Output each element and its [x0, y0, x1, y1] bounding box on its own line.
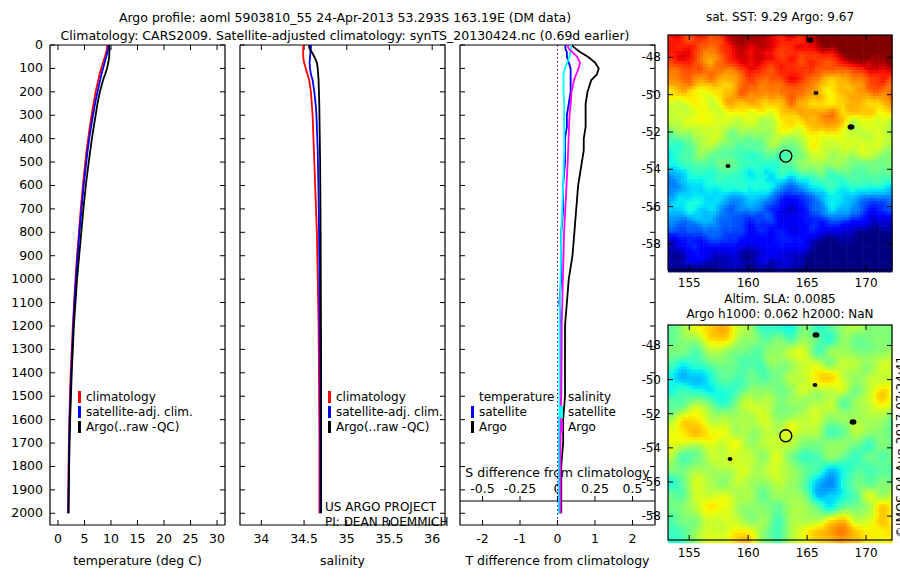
svg-text:160: 160 — [737, 276, 760, 290]
svg-text:160: 160 — [737, 546, 760, 560]
svg-text:-48: -48 — [641, 338, 661, 352]
svg-text:155: 155 — [678, 546, 701, 560]
svg-text:-48: -48 — [641, 50, 661, 64]
svg-text:-56: -56 — [641, 200, 661, 214]
svg-text:155: 155 — [678, 276, 701, 290]
svg-text:-52: -52 — [641, 407, 661, 421]
svg-text:-50: -50 — [641, 373, 661, 387]
svg-text:165: 165 — [796, 546, 819, 560]
svg-text:-54: -54 — [641, 441, 661, 455]
svg-text:-56: -56 — [641, 475, 661, 489]
svg-text:-52: -52 — [641, 125, 661, 139]
sst-map-axes: 155160165170-48-50-52-54-56-581551601651… — [0, 0, 900, 580]
svg-text:-58: -58 — [641, 237, 661, 251]
svg-text:170: 170 — [855, 546, 878, 560]
svg-text:-50: -50 — [641, 88, 661, 102]
sst-map-ticks: 155160165170-48-50-52-54-56-58 — [641, 35, 892, 290]
imos-timestamp: ©IMOS 04-Aug-2017 07:24:41 — [894, 356, 900, 538]
svg-text:-58: -58 — [641, 509, 661, 523]
sla-map-ticks: 155160165170-48-50-52-54-56-58 — [641, 325, 892, 560]
svg-text:165: 165 — [796, 276, 819, 290]
svg-text:-54: -54 — [641, 162, 661, 176]
svg-text:170: 170 — [855, 276, 878, 290]
